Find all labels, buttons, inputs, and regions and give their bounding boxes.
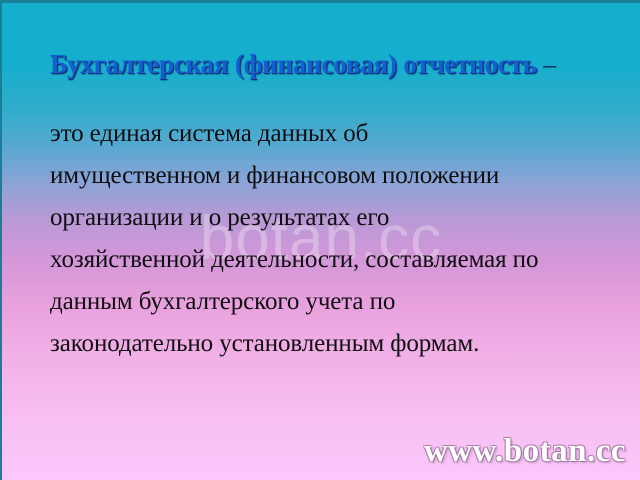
body-line: данным бухгалтерского учета по [50,281,606,323]
presentation-slide: botan.cc Бухгалтерская (финансовая) отче… [0,0,640,480]
slide-body: это единая система данных об имущественн… [50,113,606,365]
body-line: законодательно установленным формам. [50,323,606,365]
body-line: это единая система данных об [50,113,606,155]
site-watermark: www.botan.cc [424,435,626,468]
body-line: имущественном и финансовом положении [50,155,606,197]
body-line: организации и о результатах его [50,197,606,239]
slide-title: Бухгалтерская (финансовая) отчетность – [50,49,610,80]
slide-title-dash: – [537,50,557,79]
slide-title-text: Бухгалтерская (финансовая) отчетность – [50,49,610,80]
slide-title-label: Бухгалтерская (финансовая) отчетность [50,49,537,79]
body-line: хозяйственной деятельности, составляемая… [50,239,606,281]
